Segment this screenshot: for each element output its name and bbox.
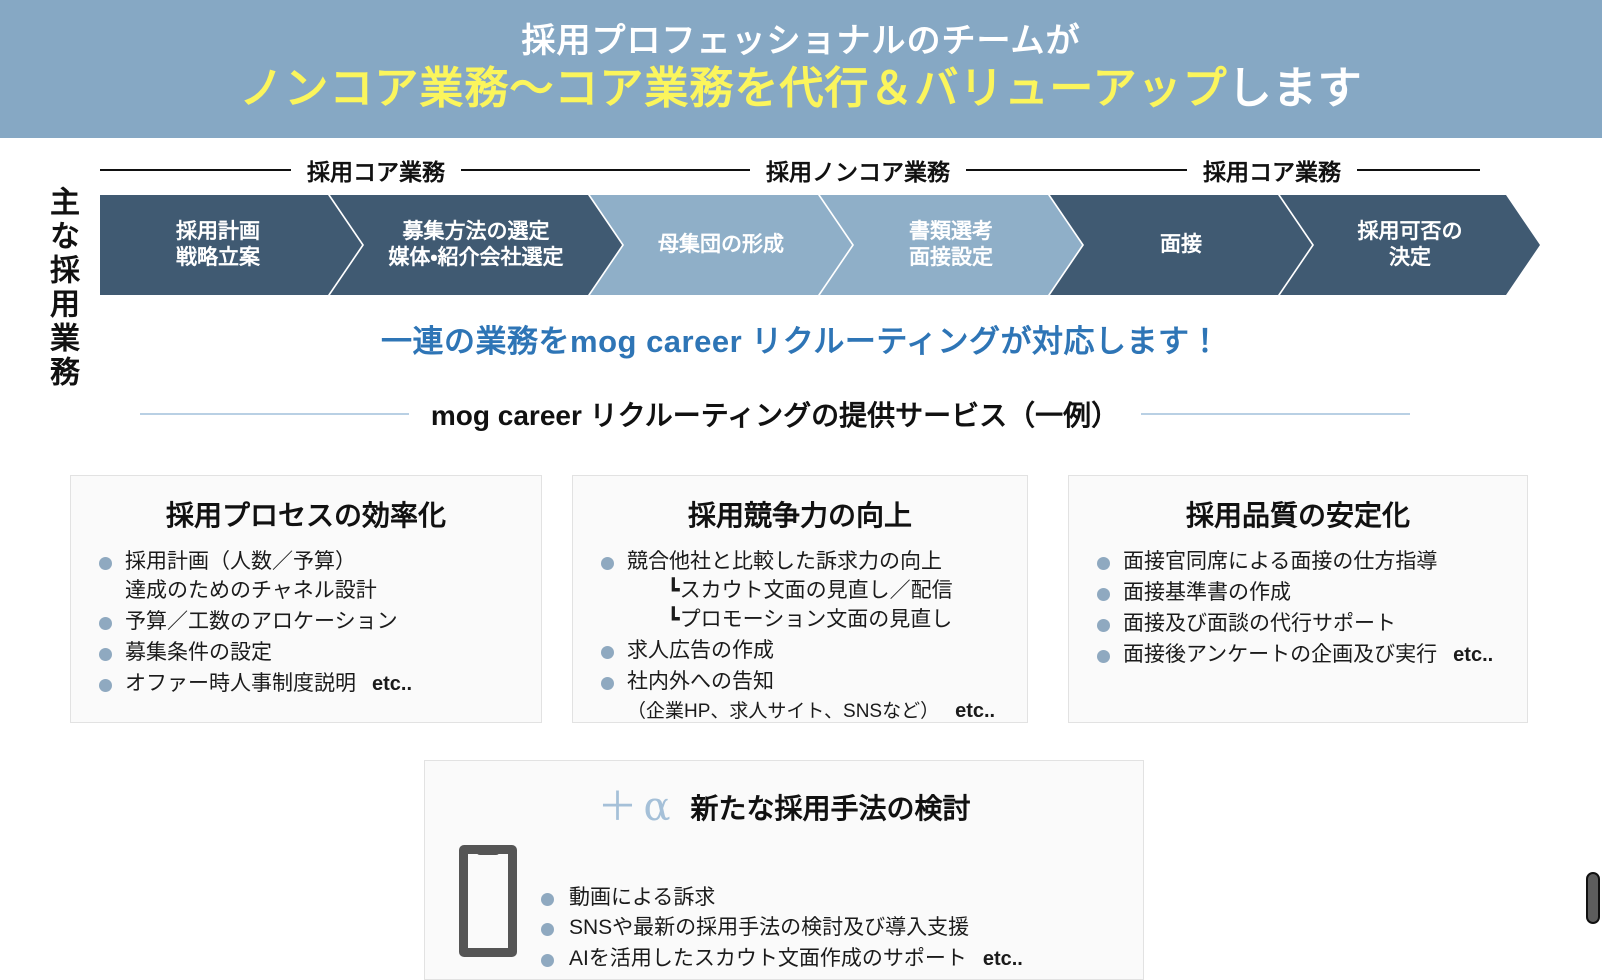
phase-group-core-2: 採用コア業務	[1064, 152, 1480, 188]
list-item-text: 社内外への告知	[627, 670, 774, 693]
section-rule-left	[140, 413, 409, 415]
card-title: 採用品質の安定化	[1069, 494, 1527, 534]
phase-rule-left	[100, 169, 291, 171]
header-line-1: 採用プロフェッショナルのチームが	[522, 23, 1081, 60]
phase-label-2: 採用コア業務	[1187, 153, 1357, 187]
etc-label: etc..	[372, 673, 412, 695]
card-bullet-list: 面接官同席による面接の仕方指導 面接基準書の作成 面接及び面談の代行サポート 面…	[1069, 548, 1527, 670]
bullet-dot-icon	[1097, 557, 1110, 570]
phase-group-core-1: 採用コア業務	[100, 152, 652, 188]
phase-group-noncore: 採用ノンコア業務	[652, 152, 1064, 188]
flow-step-2-line1: 母集団の形成	[658, 232, 784, 258]
bullet-dot-icon	[601, 677, 614, 690]
list-item-text: 求人広告の作成	[627, 639, 774, 662]
bullet-dot-icon	[541, 923, 554, 936]
smartphone-icon	[459, 845, 517, 957]
section-title: mog career リクルーティングの提供サービス（一例）	[409, 394, 1141, 434]
header-tail-text: します	[1228, 64, 1363, 113]
etc-label: etc..	[983, 948, 1023, 970]
etc-label: etc..	[955, 700, 995, 722]
bullet-dot-icon	[541, 954, 554, 967]
phase-rule-right	[966, 169, 1064, 171]
list-item: 面接基準書の作成	[1093, 579, 1527, 608]
service-card-quality: 採用品質の安定化 面接官同席による面接の仕方指導 面接基準書の作成 面接及び面談…	[1068, 475, 1528, 723]
flow-step-1-line2: 媒体・紹介会社選定	[388, 245, 563, 271]
list-item-text: 面接後アンケートの企画及び実行	[1123, 643, 1437, 666]
phase-label-row: 採用コア業務 採用ノンコア業務 採用コア業務	[100, 152, 1480, 188]
flow-step-4-line1: 面接	[1160, 232, 1202, 258]
bullet-dot-icon	[601, 557, 614, 570]
list-item: 競合他社と比較した訴求力の向上 ┗スカウト文面の見直し／配信 ┗プロモーション文…	[597, 548, 1027, 635]
flow-step-3: 書類選考 面接設定	[820, 195, 1082, 295]
flow-step-2: 母集団の形成	[590, 195, 852, 295]
phase-label-1: 採用ノンコア業務	[750, 153, 966, 187]
bullet-dot-icon	[99, 557, 112, 570]
list-item-note: （企業HP、求人サイト、SNSなど）etc..	[627, 697, 1027, 726]
list-item: 予算／工数のアロケーション	[95, 608, 541, 637]
header-highlight-text: ノンコア業務～コア業務を代行＆バリューアップ	[239, 64, 1227, 113]
list-item-continuation: 達成のためのチャネル設計	[125, 577, 541, 606]
plus-alpha-symbol-icon: ＋α	[597, 787, 676, 827]
phase-rule-right	[1357, 169, 1480, 171]
list-item-text: SNSや最新の採用手法の検討及び導入支援	[569, 916, 969, 939]
list-item-text: オファー時人事制度説明	[125, 672, 356, 695]
flow-step-5-line1: 採用可否の	[1358, 219, 1463, 245]
bullet-dot-icon	[1097, 650, 1110, 663]
header-line-2: ノンコア業務～コア業務を代行＆バリューアップします	[239, 64, 1362, 115]
list-item: 面接及び面談の代行サポート	[1093, 610, 1527, 639]
card-bullet-list: 競合他社と比較した訴求力の向上 ┗スカウト文面の見直し／配信 ┗プロモーション文…	[573, 548, 1027, 725]
list-item-text: 面接基準書の作成	[1123, 581, 1291, 604]
bullet-dot-icon	[99, 617, 112, 630]
vertical-scrollbar-thumb[interactable]	[1586, 872, 1600, 924]
phase-rule-left	[652, 169, 750, 171]
list-item-subline: ┗プロモーション文面の見直し	[627, 606, 1027, 635]
card-bullet-list: 採用計画（人数／予算） 達成のためのチャネル設計 予算／工数のアロケーション 募…	[71, 548, 541, 699]
service-card-new-methods: ＋α 新たな採用手法の検討 動画による訴求 SNSや最新の採用手法の検討及び導入…	[424, 760, 1144, 980]
flow-step-1: 募集方法の選定 媒体・紹介会社選定	[330, 195, 622, 295]
etc-label: etc..	[1453, 644, 1493, 666]
list-item-text: 動画による訴求	[569, 886, 715, 909]
bullet-dot-icon	[99, 648, 112, 661]
bullet-dot-icon	[601, 646, 614, 659]
flow-step-0-line2: 戦略立案	[176, 245, 260, 271]
list-item: 採用計画（人数／予算） 達成のためのチャネル設計	[95, 548, 541, 606]
bullet-dot-icon	[1097, 619, 1110, 632]
list-item: 求人広告の作成	[597, 637, 1027, 666]
list-item: 面接官同席による面接の仕方指導	[1093, 548, 1527, 577]
header-banner: 採用プロフェッショナルのチームが ノンコア業務～コア業務を代行＆バリューアップし…	[0, 0, 1602, 138]
note-text: （企業HP、求人サイト、SNSなど）	[627, 701, 939, 722]
flow-step-1-line1: 募集方法の選定	[388, 219, 563, 245]
list-item: 面接後アンケートの企画及び実行etc..	[1093, 641, 1527, 670]
phase-label-0: 採用コア業務	[291, 153, 461, 187]
flow-step-4: 面接	[1050, 195, 1312, 295]
list-item: 動画による訴求	[539, 883, 1023, 913]
phase-rule-left	[1064, 169, 1187, 171]
flow-step-5-line2: 決定	[1358, 245, 1463, 271]
card-title: 採用プロセスの効率化	[71, 494, 541, 534]
flow-step-5: 採用可否の 決定	[1280, 195, 1540, 295]
flow-step-3-line2: 面接設定	[909, 245, 993, 271]
card-title: 新たな採用手法の検討	[691, 787, 971, 827]
service-card-competitiveness: 採用競争力の向上 競合他社と比較した訴求力の向上 ┗スカウト文面の見直し／配信 …	[572, 475, 1028, 723]
list-item-text: 募集条件の設定	[125, 641, 272, 664]
service-tagline: 一連の業務をmog career リクルーティングが対応します！	[0, 316, 1602, 361]
list-item-text: 競合他社と比較した訴求力の向上	[627, 550, 942, 573]
list-item: 社内外への告知 （企業HP、求人サイト、SNSなど）etc..	[597, 668, 1027, 726]
bullet-dot-icon	[1097, 588, 1110, 601]
list-item-text: 採用計画（人数／予算）	[125, 550, 356, 573]
list-item: オファー時人事制度説明etc..	[95, 670, 541, 699]
flow-step-0: 採用計画 戦略立案	[100, 195, 362, 295]
list-item-subline: ┗スカウト文面の見直し／配信	[627, 577, 1027, 606]
bullet-dot-icon	[99, 679, 112, 692]
plus-alpha-body: 動画による訴求 SNSや最新の採用手法の検討及び導入支援 AIを活用したスカウト…	[425, 843, 1143, 974]
list-item-text: 予算／工数のアロケーション	[125, 610, 398, 633]
list-item: SNSや最新の採用手法の検討及び導入支援	[539, 913, 1023, 943]
recruitment-process-flow: 採用計画 戦略立案 募集方法の選定 媒体・紹介会社選定 母集団の形成 書類選考 …	[100, 195, 1480, 295]
services-section-heading: mog career リクルーティングの提供サービス（一例）	[140, 392, 1410, 436]
list-item: 募集条件の設定	[95, 639, 541, 668]
list-item-text: 面接及び面談の代行サポート	[1123, 612, 1396, 635]
plus-alpha-header: ＋α 新たな採用手法の検討	[425, 787, 1143, 827]
list-item-text: 面接官同席による面接の仕方指導	[1123, 550, 1437, 573]
section-rule-right	[1141, 413, 1410, 415]
flow-step-0-line1: 採用計画	[176, 219, 260, 245]
list-item: AIを活用したスカウト文面作成のサポートetc..	[539, 944, 1023, 974]
flow-step-3-line1: 書類選考	[909, 219, 993, 245]
bullet-dot-icon	[541, 893, 554, 906]
smartphone-speaker	[476, 847, 500, 855]
plus-alpha-bullet-list: 動画による訴求 SNSや最新の採用手法の検討及び導入支援 AIを活用したスカウト…	[539, 843, 1023, 974]
phase-rule-right	[461, 169, 652, 171]
card-title: 採用競争力の向上	[573, 494, 1027, 534]
service-card-efficiency: 採用プロセスの効率化 採用計画（人数／予算） 達成のためのチャネル設計 予算／工…	[70, 475, 542, 723]
list-item-text: AIを活用したスカウト文面作成のサポート	[569, 947, 967, 970]
